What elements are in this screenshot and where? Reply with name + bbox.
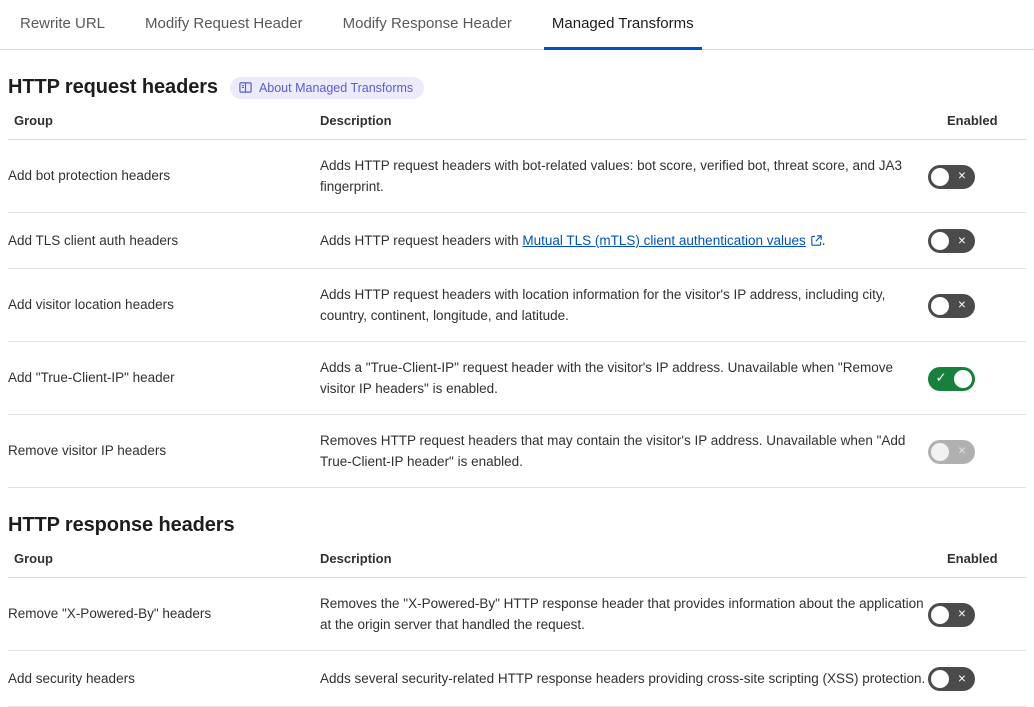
request-headers-table: Group Description Enabled Add bot protec…: [8, 113, 1026, 488]
tab-managed-transforms[interactable]: Managed Transforms: [532, 0, 714, 49]
toggle-remove-x-powered-by-headers[interactable]: ×: [928, 603, 975, 627]
toggle-knob: [931, 443, 949, 461]
table-row: Remove "X-Powered-By" headers Removes th…: [8, 578, 1026, 651]
row-description: Removes the "X-Powered-By" HTTP response…: [320, 578, 928, 651]
mutual-tls-link[interactable]: Mutual TLS (mTLS) client authentication …: [522, 233, 805, 248]
toggle-add-true-client-ip-header[interactable]: ✓: [928, 367, 975, 391]
row-enabled-cell: ✓: [928, 342, 1026, 415]
toggle-knob: [931, 168, 949, 186]
column-header-group: Group: [8, 551, 320, 578]
book-icon: [239, 81, 252, 94]
row-description-prefix: Adds HTTP request headers with: [320, 233, 522, 248]
response-headers-table: Group Description Enabled Remove "X-Powe…: [8, 551, 1026, 707]
toggle-knob: [954, 370, 972, 388]
toggle-add-security-headers[interactable]: ×: [928, 667, 975, 691]
page-title-response: HTTP response headers: [8, 514, 235, 537]
about-pill-label: About Managed Transforms: [259, 80, 413, 96]
column-header-group: Group: [8, 113, 320, 140]
column-header-enabled: Enabled: [928, 551, 1026, 578]
tab-modify-response-header[interactable]: Modify Response Header: [323, 0, 532, 49]
row-description: Adds HTTP request headers with bot-relat…: [320, 140, 928, 213]
mutual-tls-link-label: Mutual TLS (mTLS) client authentication …: [522, 233, 805, 248]
toggle-x-icon: ×: [949, 165, 975, 189]
table-row: Remove visitor IP headers Removes HTTP r…: [8, 415, 1026, 488]
row-group-label: Add TLS client auth headers: [8, 213, 320, 269]
row-group-label: Remove "X-Powered-By" headers: [8, 578, 320, 651]
column-header-description: Description: [320, 551, 928, 578]
row-group-label: Add security headers: [8, 651, 320, 707]
column-header-description: Description: [320, 113, 928, 140]
toggle-check-icon: ✓: [928, 367, 954, 391]
toggle-x-icon: ×: [949, 667, 975, 691]
toggle-add-bot-protection-headers[interactable]: ×: [928, 165, 975, 189]
row-description: Adds HTTP request headers with Mutual TL…: [320, 213, 928, 269]
table-row: Add "True-Client-IP" header Adds a "True…: [8, 342, 1026, 415]
about-managed-transforms-link[interactable]: About Managed Transforms: [230, 77, 424, 99]
toggle-add-tls-client-auth-headers[interactable]: ×: [928, 229, 975, 253]
table-row: Add bot protection headers Adds HTTP req…: [8, 140, 1026, 213]
row-description: Removes HTTP request headers that may co…: [320, 415, 928, 488]
column-header-enabled: Enabled: [928, 113, 1026, 140]
row-enabled-cell: ×: [928, 651, 1026, 707]
row-group-label: Remove visitor IP headers: [8, 415, 320, 488]
table-row: Add visitor location headers Adds HTTP r…: [8, 269, 1026, 342]
row-enabled-cell: ×: [928, 269, 1026, 342]
row-description-suffix: .: [822, 233, 826, 248]
row-group-label: Add "True-Client-IP" header: [8, 342, 320, 415]
page-title-request: HTTP request headers: [8, 76, 218, 99]
tab-modify-request-header[interactable]: Modify Request Header: [125, 0, 323, 49]
tab-bar: Rewrite URL Modify Request Header Modify…: [0, 0, 1034, 50]
request-section-header: HTTP request headers About Managed Trans…: [8, 76, 1026, 99]
toggle-remove-visitor-ip-headers: ×: [928, 440, 975, 464]
toggle-x-icon: ×: [949, 294, 975, 318]
toggle-knob: [931, 606, 949, 624]
row-description: Adds a "True-Client-IP" request header w…: [320, 342, 928, 415]
toggle-knob: [931, 297, 949, 315]
external-link-icon: [811, 232, 822, 243]
row-enabled-cell: ×: [928, 578, 1026, 651]
table-header-row: Group Description Enabled: [8, 551, 1026, 578]
toggle-add-visitor-location-headers[interactable]: ×: [928, 294, 975, 318]
row-group-label: Add bot protection headers: [8, 140, 320, 213]
toggle-x-icon: ×: [949, 229, 975, 253]
row-enabled-cell: ×: [928, 415, 1026, 488]
toggle-x-icon: ×: [949, 440, 975, 464]
row-description: Adds HTTP request headers with location …: [320, 269, 928, 342]
table-row: Add TLS client auth headers Adds HTTP re…: [8, 213, 1026, 269]
row-enabled-cell: ×: [928, 140, 1026, 213]
toggle-knob: [931, 232, 949, 250]
table-header-row: Group Description Enabled: [8, 113, 1026, 140]
tab-rewrite-url[interactable]: Rewrite URL: [0, 0, 125, 49]
toggle-x-icon: ×: [949, 603, 975, 627]
row-enabled-cell: ×: [928, 213, 1026, 269]
response-section-header: HTTP response headers: [8, 514, 1026, 537]
http-response-headers-section: HTTP response headers Group Description …: [0, 514, 1034, 707]
toggle-knob: [931, 670, 949, 688]
row-description: Adds several security-related HTTP respo…: [320, 651, 928, 707]
table-row: Add security headers Adds several securi…: [8, 651, 1026, 707]
http-request-headers-section: HTTP request headers About Managed Trans…: [0, 76, 1034, 488]
row-group-label: Add visitor location headers: [8, 269, 320, 342]
